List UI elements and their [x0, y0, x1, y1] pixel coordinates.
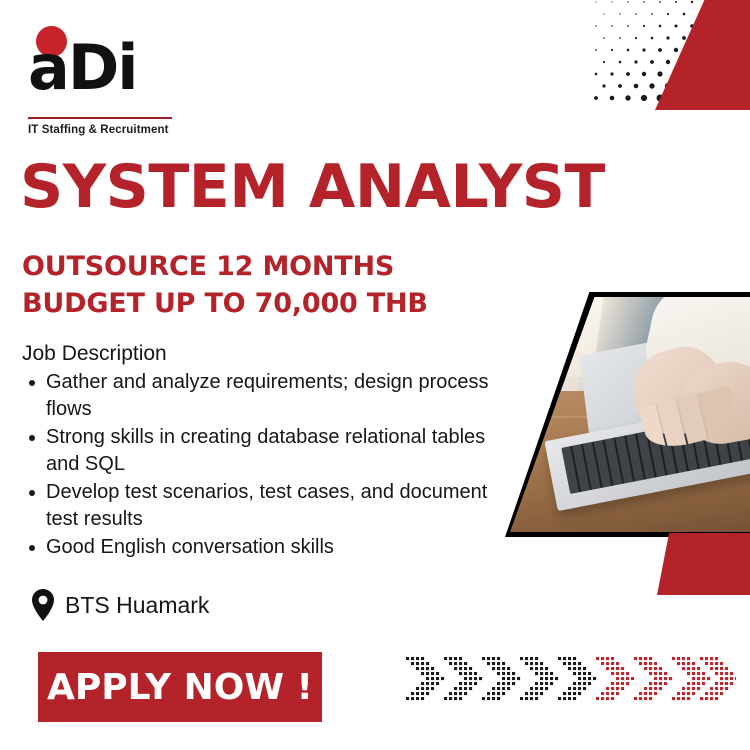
bottom-red-wedge — [657, 533, 750, 595]
location-row: BTS Huamark — [30, 588, 209, 622]
photo-image — [509, 297, 750, 532]
logo-wordmark: aDi — [28, 37, 137, 99]
job-description-section: Job Description Gather and analyze requi… — [22, 340, 492, 562]
list-item-text: Gather and analyze requirements; design … — [46, 371, 488, 420]
list-item: Gather and analyze requirements; design … — [22, 369, 492, 423]
bullet-icon — [29, 435, 35, 441]
location-label: BTS Huamark — [65, 591, 209, 619]
chevron-arrow-pattern — [406, 652, 736, 708]
list-item-text: Good English conversation skills — [46, 536, 334, 558]
list-item: Strong skills in creating database relat… — [22, 424, 492, 478]
logo-divider — [28, 117, 172, 119]
bullet-icon — [29, 380, 35, 386]
list-item: Good English conversation skills — [22, 534, 492, 561]
list-item-text: Strong skills in creating database relat… — [46, 426, 485, 475]
logo-tagline: IT Staffing & Recruitment — [28, 124, 169, 136]
job-poster: aDi IT Staffing & Recruitment SYSTEM ANA… — [0, 0, 750, 750]
photo-window-frame — [539, 297, 542, 377]
job-description-heading: Job Description — [22, 340, 492, 367]
bullet-icon — [29, 545, 35, 551]
list-item-text: Develop test scenarios, test cases, and … — [46, 481, 487, 530]
apply-now-label: APPLY NOW ! — [47, 667, 313, 708]
company-logo: aDi IT Staffing & Recruitment — [22, 24, 202, 142]
contract-summary: OUTSOURCE 12 MONTHS BUDGET UP TO 70,000 … — [22, 248, 502, 322]
contract-budget: BUDGET UP TO 70,000 THB — [22, 285, 502, 322]
photo-scene — [509, 297, 750, 532]
hero-photo — [505, 292, 750, 537]
page-title: SYSTEM ANALYST — [20, 155, 680, 219]
logo-mark: aDi — [22, 24, 182, 104]
location-pin-icon — [30, 588, 56, 622]
list-item: Develop test scenarios, test cases, and … — [22, 479, 492, 533]
job-description-list: Gather and analyze requirements; design … — [22, 369, 492, 561]
apply-now-button[interactable]: APPLY NOW ! — [38, 652, 322, 722]
bullet-icon — [29, 490, 35, 496]
contract-duration: OUTSOURCE 12 MONTHS — [22, 248, 502, 285]
